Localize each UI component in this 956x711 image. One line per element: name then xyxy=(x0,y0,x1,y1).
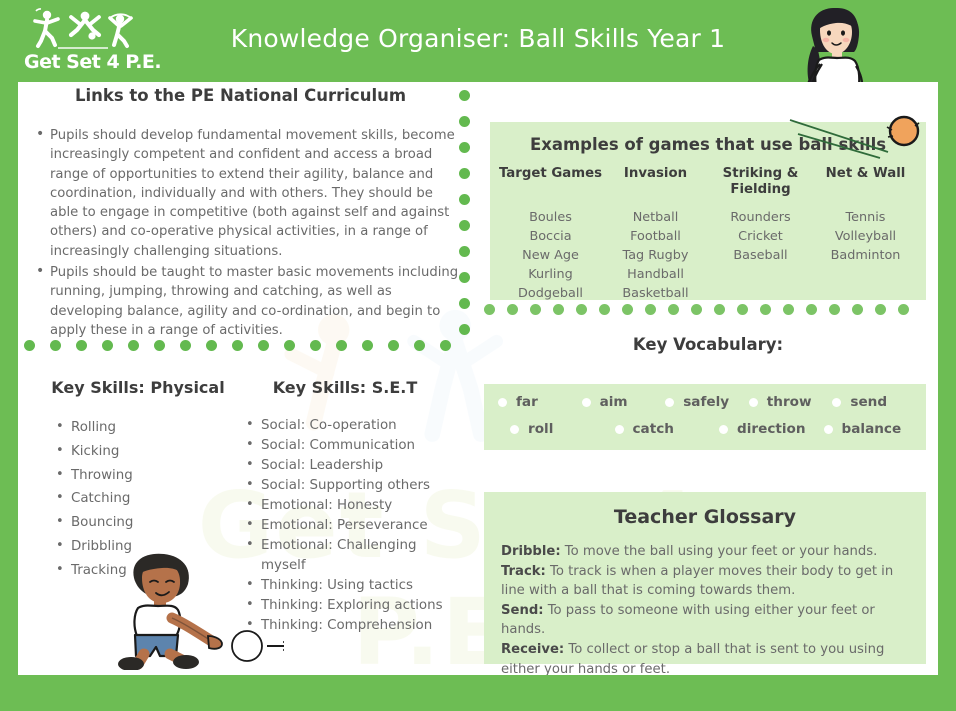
games-column: Striking & Fielding Rounders Cricket Bas… xyxy=(708,166,813,303)
list-item: Basketball xyxy=(603,284,708,303)
vocabulary-item: aim xyxy=(582,394,666,410)
curriculum-heading: Links to the PE National Curriculum xyxy=(18,86,463,105)
list-item: Rounders xyxy=(708,208,813,227)
list-item: Social: Supporting others xyxy=(246,476,458,496)
vocabulary-word: safely xyxy=(683,394,729,410)
logo-wordmark: Get Set 4 P.E. xyxy=(24,51,148,73)
bullet-icon xyxy=(498,398,507,407)
column-header: Invasion xyxy=(603,166,708,204)
bullet-icon xyxy=(832,398,841,407)
vocabulary-item: catch xyxy=(603,421,708,437)
bullet-icon xyxy=(824,425,833,434)
physical-skills-heading: Key Skills: Physical xyxy=(28,378,248,397)
list-item: Tag Rugby xyxy=(603,246,708,265)
vocabulary-item: safely xyxy=(665,394,749,410)
set-skills-heading: Key Skills: S.E.T xyxy=(230,378,460,397)
glossary-term: Send: xyxy=(501,603,544,618)
list-item: Badminton xyxy=(813,246,918,265)
list-item: New Age Kurling xyxy=(498,246,603,284)
bullet-icon xyxy=(615,425,624,434)
list-item: Emotional: Honesty xyxy=(246,496,458,516)
column-header: Target Games xyxy=(498,166,603,204)
vocabulary-item: roll xyxy=(498,421,603,437)
column-header: Striking & Fielding xyxy=(708,166,813,204)
vocabulary-row: roll catch direction balance xyxy=(498,421,916,437)
vocabulary-word: send xyxy=(850,394,887,410)
vocabulary-item: send xyxy=(832,394,916,410)
list-item: Catching xyxy=(56,487,246,511)
column-items: Netball Football Tag Rugby Handball Bask… xyxy=(603,208,708,303)
list-item: Football xyxy=(603,227,708,246)
column-header: Net & Wall xyxy=(813,166,918,204)
teacher-glossary-panel: Teacher Glossary Dribble: To move the ba… xyxy=(484,492,926,664)
list-item: Emotional: Perseverance xyxy=(246,516,458,536)
vocabulary-item: direction xyxy=(707,421,812,437)
list-item: Throwing xyxy=(56,464,246,488)
list-item: Kicking xyxy=(56,440,246,464)
list-item: Pupils should be taught to master basic … xyxy=(32,263,464,340)
bullet-icon xyxy=(719,425,728,434)
list-item: Bouncing xyxy=(56,511,246,535)
vocabulary-word: far xyxy=(516,394,538,410)
list-item: Boules xyxy=(498,208,603,227)
vocabulary-word: catch xyxy=(633,421,674,437)
list-item: Handball xyxy=(603,265,708,284)
list-item: Boccia xyxy=(498,227,603,246)
page-header: Get Set 4 P.E. Knowledge Organiser: Ball… xyxy=(0,0,956,82)
games-column: Net & Wall Tennis Volleyball Badminton xyxy=(813,166,918,303)
list-item: Social: Communication xyxy=(246,436,458,456)
games-column: Invasion Netball Football Tag Rugby Hand… xyxy=(603,166,708,303)
bullet-icon xyxy=(510,425,519,434)
list-item: Pupils should develop fundamental moveme… xyxy=(32,126,464,261)
bullet-icon xyxy=(749,398,758,407)
games-column: Target Games Boules Boccia New Age Kurli… xyxy=(498,166,603,303)
content-sheet: Get Set 4 P.E. Links to the PE National … xyxy=(18,82,938,675)
knowledge-organiser-page: Get Set 4 P.E. Knowledge Organiser: Ball… xyxy=(0,0,956,711)
curriculum-list: Pupils should develop fundamental moveme… xyxy=(32,126,464,342)
list-item: Rolling xyxy=(56,416,246,440)
column-items: Boules Boccia New Age Kurling Dodgeball xyxy=(498,208,603,303)
glossary-term: Track: xyxy=(501,564,546,579)
vocabulary-heading: Key Vocabulary: xyxy=(490,335,926,354)
bullet-icon xyxy=(665,398,674,407)
column-items: Rounders Cricket Baseball xyxy=(708,208,813,265)
vocabulary-item: balance xyxy=(812,421,917,437)
list-item: Volleyball xyxy=(813,227,918,246)
glossary-body: Dribble: To move the ball using your fee… xyxy=(501,542,913,675)
boy-rolling-ball-illustration xyxy=(104,552,284,670)
glossary-term: Receive: xyxy=(501,642,564,657)
list-item: Cricket xyxy=(708,227,813,246)
glossary-definition: To pass to someone with using either you… xyxy=(501,603,875,638)
vocabulary-row: far aim safely throw send xyxy=(498,394,916,410)
vocabulary-word: direction xyxy=(737,421,806,437)
list-item: Baseball xyxy=(708,246,813,265)
list-item: Social: Co-operation xyxy=(246,416,458,436)
list-item: Dodgeball xyxy=(498,284,603,303)
glossary-definition: To track is when a player moves their bo… xyxy=(501,564,893,599)
vocabulary-item: far xyxy=(498,394,582,410)
bullet-icon xyxy=(582,398,591,407)
glossary-heading: Teacher Glossary xyxy=(484,506,926,528)
vocabulary-word: roll xyxy=(528,421,553,437)
glossary-definition: To move the ball using your feet or your… xyxy=(561,544,878,559)
column-items: Tennis Volleyball Badminton xyxy=(813,208,918,265)
ball-trajectory-line xyxy=(788,118,898,162)
vocabulary-word: aim xyxy=(600,394,628,410)
games-grid: Target Games Boules Boccia New Age Kurli… xyxy=(498,166,918,303)
list-item: Netball xyxy=(603,208,708,227)
vocabulary-word: throw xyxy=(767,394,812,410)
vocabulary-item: throw xyxy=(749,394,833,410)
glossary-term: Dribble: xyxy=(501,544,561,559)
vocabulary-word: balance xyxy=(842,421,902,437)
list-item: Social: Leadership xyxy=(246,456,458,476)
list-item: Tennis xyxy=(813,208,918,227)
vocabulary-panel: far aim safely throw send xyxy=(484,384,926,450)
